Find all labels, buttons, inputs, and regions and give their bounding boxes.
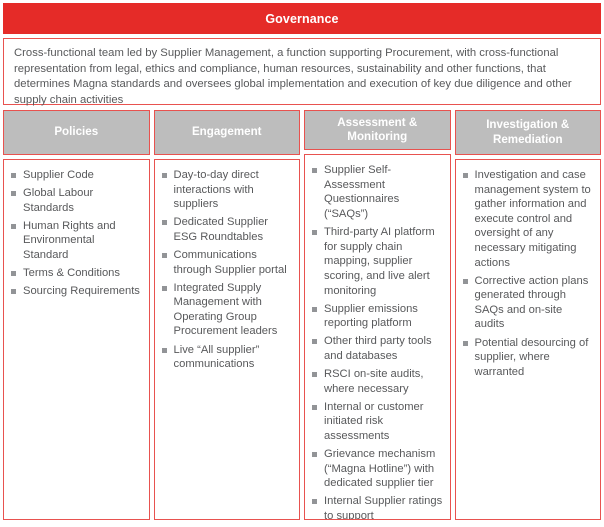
list-item-text: Integrated Supply Management with Operat… xyxy=(174,281,294,339)
list-item: Live “All supplier” communications xyxy=(161,343,294,372)
list-item: Other third party tools and databases xyxy=(311,334,444,363)
pillar-columns: Policies Supplier Code Global Labour Sta… xyxy=(3,110,601,520)
column-header-assessment-monitoring: Assessment & Monitoring xyxy=(304,110,451,150)
list-item-text: Sourcing Requirements xyxy=(23,284,143,299)
list-item: Terms & Conditions xyxy=(10,266,143,281)
column-header-policies: Policies xyxy=(3,110,150,155)
column-body-investigation-remediation: Investigation and case management system… xyxy=(455,159,602,520)
list-item: Sourcing Requirements xyxy=(10,284,143,299)
column-engagement: Engagement Day-to-day direct interaction… xyxy=(154,110,301,520)
list-item-text: Dedicated Supplier ESG Roundtables xyxy=(174,215,294,244)
list-item-text: Internal Supplier ratings to support sou… xyxy=(324,494,444,520)
square-bullet-icon xyxy=(312,452,317,457)
list-item: Internal Supplier ratings to support sou… xyxy=(311,494,444,520)
list-item-text: Potential desourcing of supplier, where … xyxy=(475,336,595,380)
list-item: Integrated Supply Management with Operat… xyxy=(161,281,294,339)
square-bullet-icon xyxy=(312,372,317,377)
column-header-label: Policies xyxy=(54,125,98,140)
governance-diagram: Governance Cross-functional team led by … xyxy=(0,0,604,527)
square-bullet-icon xyxy=(11,173,16,178)
list-item: RSCI on-site audits, where necessary xyxy=(311,367,444,396)
list-item: Investigation and case management system… xyxy=(462,168,595,270)
column-body-engagement: Day-to-day direct interactions with supp… xyxy=(154,159,301,520)
column-header-label: Investigation & Remediation xyxy=(460,118,597,147)
list-item-text: Corrective action plans generated throug… xyxy=(475,274,595,332)
square-bullet-icon xyxy=(463,341,468,346)
bullet-list-policies: Supplier Code Global Labour Standards Hu… xyxy=(10,168,143,299)
column-investigation-remediation: Investigation & Remediation Investigatio… xyxy=(455,110,602,520)
list-item-text: Supplier emissions reporting platform xyxy=(324,302,444,331)
list-item: Supplier Self-Assessment Questionnaires … xyxy=(311,163,444,221)
square-bullet-icon xyxy=(11,191,16,196)
square-bullet-icon xyxy=(162,348,167,353)
square-bullet-icon xyxy=(312,499,317,504)
list-item: Internal or customer initiated risk asse… xyxy=(311,400,444,444)
list-item: Communications through Supplier portal xyxy=(161,248,294,277)
list-item: Dedicated Supplier ESG Roundtables xyxy=(161,215,294,244)
list-item: Grievance mechanism (“Magna Hotline”) wi… xyxy=(311,447,444,491)
list-item-text: Live “All supplier” communications xyxy=(174,343,294,372)
column-body-assessment-monitoring: Supplier Self-Assessment Questionnaires … xyxy=(304,154,451,520)
square-bullet-icon xyxy=(463,173,468,178)
list-item: Human Rights and Environmental Standard xyxy=(10,219,143,263)
column-policies: Policies Supplier Code Global Labour Sta… xyxy=(3,110,150,520)
list-item: Third-party AI platform for supply chain… xyxy=(311,225,444,298)
list-item-text: Terms & Conditions xyxy=(23,266,143,281)
governance-banner: Governance xyxy=(3,3,601,34)
square-bullet-icon xyxy=(312,168,317,173)
square-bullet-icon xyxy=(11,224,16,229)
list-item-text: Human Rights and Environmental Standard xyxy=(23,219,143,263)
list-item-text: Third-party AI platform for supply chain… xyxy=(324,225,444,298)
bullet-list-assessment-monitoring: Supplier Self-Assessment Questionnaires … xyxy=(311,163,444,520)
list-item-text: RSCI on-site audits, where necessary xyxy=(324,367,444,396)
governance-description-box: Cross-functional team led by Supplier Ma… xyxy=(3,38,601,105)
column-header-label: Engagement xyxy=(192,125,262,140)
column-assessment-monitoring: Assessment & Monitoring Supplier Self-As… xyxy=(304,110,451,520)
list-item-text: Day-to-day direct interactions with supp… xyxy=(174,168,294,212)
governance-description-text: Cross-functional team led by Supplier Ma… xyxy=(14,46,590,108)
square-bullet-icon xyxy=(312,339,317,344)
list-item-text: Investigation and case management system… xyxy=(475,168,595,270)
list-item-text: Supplier Code xyxy=(23,168,143,183)
list-item-text: Global Labour Standards xyxy=(23,186,143,215)
list-item: Global Labour Standards xyxy=(10,186,143,215)
square-bullet-icon xyxy=(312,307,317,312)
square-bullet-icon xyxy=(312,230,317,235)
list-item-text: Grievance mechanism (“Magna Hotline”) wi… xyxy=(324,447,444,491)
square-bullet-icon xyxy=(11,289,16,294)
column-header-engagement: Engagement xyxy=(154,110,301,155)
column-header-investigation-remediation: Investigation & Remediation xyxy=(455,110,602,155)
square-bullet-icon xyxy=(162,286,167,291)
column-body-policies: Supplier Code Global Labour Standards Hu… xyxy=(3,159,150,520)
square-bullet-icon xyxy=(463,279,468,284)
column-header-label: Assessment & Monitoring xyxy=(309,116,446,145)
list-item-text: Internal or customer initiated risk asse… xyxy=(324,400,444,444)
list-item-text: Other third party tools and databases xyxy=(324,334,444,363)
square-bullet-icon xyxy=(162,220,167,225)
bullet-list-investigation-remediation: Investigation and case management system… xyxy=(462,168,595,379)
square-bullet-icon xyxy=(162,253,167,258)
list-item: Corrective action plans generated throug… xyxy=(462,274,595,332)
governance-banner-title: Governance xyxy=(265,12,338,26)
bullet-list-engagement: Day-to-day direct interactions with supp… xyxy=(161,168,294,372)
list-item: Supplier emissions reporting platform xyxy=(311,302,444,331)
square-bullet-icon xyxy=(162,173,167,178)
list-item: Potential desourcing of supplier, where … xyxy=(462,336,595,380)
list-item: Supplier Code xyxy=(10,168,143,183)
list-item: Day-to-day direct interactions with supp… xyxy=(161,168,294,212)
square-bullet-icon xyxy=(11,271,16,276)
list-item-text: Supplier Self-Assessment Questionnaires … xyxy=(324,163,444,221)
square-bullet-icon xyxy=(312,405,317,410)
list-item-text: Communications through Supplier portal xyxy=(174,248,294,277)
